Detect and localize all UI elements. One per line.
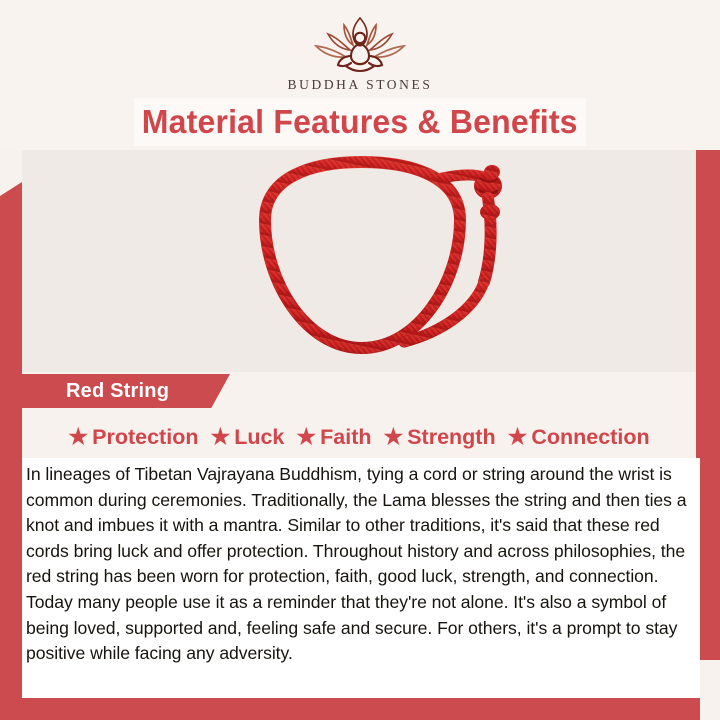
product-stage: [22, 150, 696, 372]
benefit-item-faith: ★ Faith: [290, 425, 377, 450]
lotus-meditation-icon: [306, 12, 414, 74]
benefits-row: ★ Protection ★ Luck ★ Faith ★ Strength ★…: [22, 418, 696, 456]
description-panel: In lineages of Tibetan Vajrayana Buddhis…: [22, 458, 700, 698]
benefit-item-connection: ★ Connection: [502, 425, 656, 450]
description-text: In lineages of Tibetan Vajrayana Buddhis…: [26, 462, 688, 667]
benefit-item-strength: ★ Strength: [377, 425, 501, 450]
benefit-item-protection: ★ Protection: [62, 425, 204, 450]
brand-logo: BUDDHA STONES: [0, 12, 720, 93]
material-name-ribbon: Red String: [22, 374, 230, 408]
material-name: Red String: [66, 380, 169, 403]
star-icon: ★: [68, 426, 88, 448]
header: BUDDHA STONES Material Features & Benefi…: [0, 0, 720, 150]
benefit-label: Connection: [531, 425, 649, 450]
star-icon: ★: [508, 426, 528, 448]
red-string-bracelet-image: [22, 150, 696, 372]
star-icon: ★: [210, 426, 230, 448]
page-title: Material Features & Benefits: [142, 103, 578, 141]
benefit-label: Luck: [234, 425, 284, 450]
page-title-banner: Material Features & Benefits: [134, 98, 586, 146]
decor-left-bar: [0, 182, 22, 720]
benefit-item-luck: ★ Luck: [204, 425, 290, 450]
star-icon: ★: [296, 426, 316, 448]
brand-name: BUDDHA STONES: [0, 77, 720, 93]
decor-bottom-bar: [0, 698, 700, 720]
benefit-label: Faith: [320, 425, 371, 450]
star-icon: ★: [383, 426, 403, 448]
benefit-label: Strength: [407, 425, 495, 450]
poster-root: BUDDHA STONES Material Features & Benefi…: [0, 0, 720, 720]
benefit-label: Protection: [92, 425, 198, 450]
